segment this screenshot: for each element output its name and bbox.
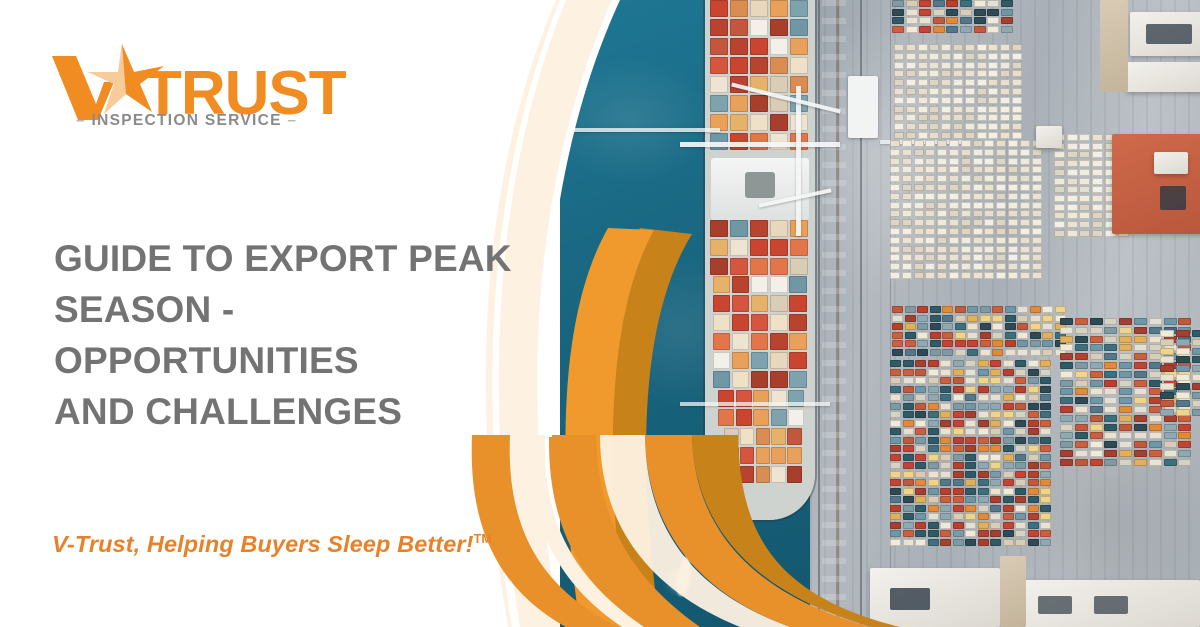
photo-ship-container (710, 57, 728, 74)
photo-yard-container (978, 488, 989, 495)
photo-yard-container (1149, 459, 1162, 466)
photo-yard-container (1015, 539, 1026, 546)
photo-yard-container (1079, 230, 1090, 237)
photo-yard-container (937, 202, 947, 209)
photo-yard-container (1012, 62, 1022, 69)
photo-yard-container (1040, 394, 1051, 401)
photo-yard-container (937, 210, 947, 217)
photo-yard-container (988, 62, 998, 69)
photo-ship-container (789, 295, 806, 312)
photo-yard-container (1079, 178, 1090, 185)
photo-yard-container (894, 62, 904, 69)
photo-yard-container (914, 193, 924, 200)
photo-yard-container (890, 272, 900, 279)
photo-yard-container (1028, 454, 1039, 461)
photo-yard-container (903, 454, 914, 461)
photo-ship-container (771, 466, 786, 483)
photo-yard-container (988, 123, 998, 130)
photo-yard-container (890, 488, 901, 495)
page-title-line-1: GUIDE TO EXPORT PEAK (54, 238, 512, 279)
photo-yard-container (1090, 424, 1103, 431)
photo-yard-container (974, 9, 986, 16)
photo-yard-container (980, 340, 991, 347)
photo-yard-container (1003, 496, 1014, 503)
photo-yard-container (1079, 134, 1090, 141)
photo-ship-container (770, 239, 788, 256)
photo-yard-container (949, 140, 959, 147)
photo-yard-container (1020, 140, 1030, 147)
photo-yard-container (978, 377, 989, 384)
photo-yard-container (894, 132, 904, 139)
photo-yard-container (925, 246, 935, 253)
photo-yard-container (987, 17, 999, 24)
photo-yard-container (1054, 169, 1065, 176)
photo-yard-container (1119, 344, 1132, 351)
photo-yard-container (1104, 318, 1117, 325)
photo-yard-container (925, 237, 935, 244)
photo-yard-container (978, 360, 989, 367)
photo-yard-container (925, 219, 935, 226)
photo-yard-container (973, 140, 983, 147)
photo-yard-container (917, 306, 928, 313)
photo-yard-container (1104, 336, 1117, 343)
photo-yard-container (1160, 330, 1174, 337)
photo-container-ship (705, 0, 815, 520)
photo-yard-container (978, 369, 989, 376)
photo-yard-container (1075, 318, 1088, 325)
photo-yard-container (902, 210, 912, 217)
photo-yard-container (1079, 186, 1090, 193)
photo-yard-container (903, 539, 914, 546)
page-title: GUIDE TO EXPORT PEAK SEASON - OPPORTUNIT… (54, 233, 524, 437)
photo-ship-container (771, 409, 787, 426)
photo-yard-container (965, 123, 975, 130)
photo-yard-container (918, 97, 928, 104)
photo-yard-container (914, 158, 924, 165)
photo-yard-container (918, 106, 928, 113)
photo-yard-container (1005, 315, 1016, 322)
photo-yard-container (990, 403, 1001, 410)
photo-yard-container (949, 149, 959, 156)
photo-yard-container (1090, 353, 1103, 360)
photo-yard-container (1040, 471, 1051, 478)
photo-yard-container (953, 471, 964, 478)
photo-yard-container (914, 254, 924, 261)
photo-ship-container (724, 466, 739, 483)
photo-yard-container (915, 530, 926, 537)
photo-yard-container (1032, 246, 1042, 253)
photo-yard-container (949, 202, 959, 209)
photo-yard-container (974, 17, 986, 24)
photo-yard-container (942, 332, 953, 339)
photo-yard-container (990, 462, 1001, 469)
photo-ship-container (730, 95, 748, 112)
photo-yard-container (1060, 441, 1073, 448)
photo-yard-container (1067, 160, 1078, 167)
photo-yard-container (915, 479, 926, 486)
photo-yard-container (940, 488, 951, 495)
photo-yard-container (1090, 450, 1103, 457)
photo-yard-container (1015, 513, 1026, 520)
photo-yard-container (903, 369, 914, 376)
photo-ship-container (713, 371, 730, 388)
photo-yard-container (1008, 272, 1018, 279)
photo-yard-container (906, 0, 918, 7)
photo-yard-container (1119, 362, 1132, 369)
photo-yard-container (941, 70, 951, 77)
photo-yard-container (1134, 388, 1147, 395)
photo-ship-container (740, 447, 755, 464)
photo-yard-container (890, 496, 901, 503)
photo-yard-container (1028, 386, 1039, 393)
photo-yard-container (937, 246, 947, 253)
logo[interactable]: TRUST – INSPECTION SERVICE – (48, 42, 348, 142)
photo-yard-container (953, 505, 964, 512)
photo-yard-container (1028, 479, 1039, 486)
photo-yard-container (1176, 392, 1190, 399)
photo-yard-container (1003, 377, 1014, 384)
photo-yard-container (918, 123, 928, 130)
photo-yard-container (984, 175, 994, 182)
photo-yard-container (914, 175, 924, 182)
photo-yard-container (1003, 462, 1014, 469)
photo-yard-container (1090, 362, 1103, 369)
photo-yard-container (903, 530, 914, 537)
photo-yard-container (1020, 184, 1030, 191)
photo-yard-container (992, 332, 1003, 339)
photo-yard-container (1017, 323, 1028, 330)
photo-yard-container (1032, 254, 1042, 261)
photo-yard-container (1008, 166, 1018, 173)
photo-yard-container (1092, 134, 1103, 141)
photo-ship-container (771, 428, 786, 445)
photo-yard-container (1032, 237, 1042, 244)
photo-yard-container (996, 184, 1006, 191)
photo-yard-container (915, 394, 926, 401)
photo-yard-container (902, 228, 912, 235)
photo-yard-container (1003, 539, 1014, 546)
photo-yard-container (941, 97, 951, 104)
photo-yard-container (990, 386, 1001, 393)
photo-yard-container (925, 193, 935, 200)
photo-yard-container (1032, 210, 1042, 217)
photo-yard-container (1092, 160, 1103, 167)
photo-yard-container (965, 428, 976, 435)
photo-ship-container (710, 38, 728, 55)
photo-yard-container (1067, 221, 1078, 228)
photo-yard-container (978, 479, 989, 486)
photo-yard-container (973, 228, 983, 235)
photo-yard-container (890, 513, 901, 520)
photo-yard-container (937, 228, 947, 235)
photo-yard-container (1164, 432, 1177, 439)
photo-roof-unit (1160, 186, 1186, 210)
photo-yard-container (965, 513, 976, 520)
photo-yard-container (1079, 212, 1090, 219)
photo-yard-container (1020, 166, 1030, 173)
photo-yard-container (1040, 428, 1051, 435)
photo-yard-container (953, 522, 964, 529)
photo-yard-container (1040, 496, 1051, 503)
photo-warehouse-roof (1146, 24, 1192, 44)
photo-yard-container (890, 246, 900, 253)
photo-yard-container (940, 377, 951, 384)
photo-yard-container (960, 17, 972, 24)
photo-yard-container (965, 53, 975, 60)
photo-yard-container (978, 420, 989, 427)
photo-yard-container (930, 315, 941, 322)
photo-yard-container (919, 9, 931, 16)
photo-yard-container (929, 106, 939, 113)
photo-ship-container (710, 0, 728, 17)
photo-yard-container (940, 539, 951, 546)
photo-ship-container (789, 333, 806, 350)
photo-yard-container (1028, 513, 1039, 520)
photo-yard-container (953, 132, 963, 139)
photo-yard-container (917, 315, 928, 322)
photo-yard-container (1164, 459, 1177, 466)
photo-yard-container (953, 479, 964, 486)
photo-yard-container (892, 0, 904, 7)
photo-yard-container (1028, 522, 1039, 529)
photo-yard-container (977, 132, 987, 139)
photo-yard-container (996, 272, 1006, 279)
photo-yard-container (977, 123, 987, 130)
photo-yard-container (1015, 530, 1026, 537)
photo-yard-container (1015, 454, 1026, 461)
photo-yard-container (973, 246, 983, 253)
photo-yard-container (890, 505, 901, 512)
photo-yard-container (919, 0, 931, 7)
photo-yard-container (988, 114, 998, 121)
photo-yard-container (1119, 406, 1132, 413)
photo-yard-container (1164, 318, 1177, 325)
photo-yard-container (1032, 158, 1042, 165)
photo-yard-container (894, 123, 904, 130)
photo-yard-container (965, 62, 975, 69)
photo-yard-container (925, 158, 935, 165)
photo-yard-container (961, 202, 971, 209)
photo-yard-container (1060, 432, 1073, 439)
photo-yard-container (914, 237, 924, 244)
photo-yard-container (915, 539, 926, 546)
photo-yard-container (1020, 158, 1030, 165)
photo-yard-container (1001, 26, 1013, 33)
photo-yard-container (965, 114, 975, 121)
photo-yard-container (967, 323, 978, 330)
photo-yard-container (1067, 195, 1078, 202)
photo-yard-container (940, 496, 951, 503)
photo-ship-container (770, 76, 788, 93)
photo-yard-container (953, 70, 963, 77)
photo-yard-container (1032, 219, 1042, 226)
photo-yard-container (937, 237, 947, 244)
photo-yard-container (894, 106, 904, 113)
photo-yard-container (1054, 230, 1065, 237)
photo-yard-container (925, 272, 935, 279)
photo-ship-container (740, 428, 755, 445)
photo-yard-container (1160, 374, 1174, 381)
photo-yard-container (1079, 143, 1090, 150)
photo-yard-container (928, 513, 939, 520)
photo-ship-container (787, 466, 802, 483)
photo-yard-container (1003, 522, 1014, 529)
photo-yard-container (1090, 388, 1103, 395)
photo-yard-container (1003, 386, 1014, 393)
photo-yard-container (987, 26, 999, 33)
photo-yard-container (992, 323, 1003, 330)
photo-yard-container (978, 403, 989, 410)
photo-yard-container (1017, 332, 1028, 339)
photo-yard-container (1119, 353, 1132, 360)
photo-ship-container (713, 352, 730, 369)
photo-yard-container (953, 97, 963, 104)
photo-yard-container (1134, 336, 1147, 343)
photo-yard-container (960, 9, 972, 16)
photo-yard-container (1104, 362, 1117, 369)
photo-yard-container (1040, 445, 1051, 452)
photo-yard-container (928, 488, 939, 495)
photo-yard-container (1028, 539, 1039, 546)
photo-yard-container (903, 445, 914, 452)
photo-yard-container (1008, 140, 1018, 147)
photo-yard-container (1040, 377, 1051, 384)
photo-yard-container (1060, 371, 1073, 378)
photo-roof-unit (890, 588, 930, 610)
photo-yard-container (953, 394, 964, 401)
photo-yard-container (973, 158, 983, 165)
photo-yard-container (894, 53, 904, 60)
photo-yard-container (1003, 471, 1014, 478)
photo-yard-container (953, 445, 964, 452)
photo-yard-container (953, 437, 964, 444)
photo-yard-container (1075, 344, 1088, 351)
photo-yard-container (915, 471, 926, 478)
photo-yard-container (929, 88, 939, 95)
photo-ship-container (730, 19, 748, 36)
photo-yard-container (1192, 356, 1200, 363)
photo-yard-container (903, 420, 914, 427)
photo-yard-container (1119, 371, 1132, 378)
photo-yard-container (903, 488, 914, 495)
photo-yard-container (1054, 204, 1065, 211)
photo-yard-container (928, 539, 939, 546)
photo-yard-container (915, 445, 926, 452)
photo-yard-container (928, 411, 939, 418)
hero-photo (560, 0, 1200, 627)
photo-yard-container (988, 44, 998, 51)
photo-yard-container (973, 149, 983, 156)
photo-ship-container (750, 114, 768, 131)
photo-yard-container (990, 496, 1001, 503)
photo-yard-container (953, 369, 964, 376)
photo-yard-container (1017, 349, 1028, 356)
photo-yard-container (973, 210, 983, 217)
photo-yard-container (1104, 424, 1117, 431)
photo-yard-container (1040, 513, 1051, 520)
photo-yard-container (928, 428, 939, 435)
photo-ship-container (713, 295, 730, 312)
photo-yard-container (905, 340, 916, 347)
photo-yard-container (953, 360, 964, 367)
photo-yard-container (905, 315, 916, 322)
photo-yard-container (903, 386, 914, 393)
photo-yard-container (961, 149, 971, 156)
photo-yard-container (940, 445, 951, 452)
photo-yard-container (941, 53, 951, 60)
photo-yard-container (1005, 332, 1016, 339)
photo-yard-container (1134, 397, 1147, 404)
photo-yard-container (1015, 462, 1026, 469)
photo-yard-container (890, 166, 900, 173)
photo-ship-bridge (711, 158, 809, 220)
photo-yard-container (1003, 479, 1014, 486)
photo-yard-container (1042, 340, 1053, 347)
photo-yard-container (1008, 228, 1018, 235)
photo-yard-container (965, 394, 976, 401)
photo-yard-container (1067, 186, 1078, 193)
logo-mark: TRUST (48, 42, 348, 122)
photo-ship-container (718, 409, 734, 426)
photo-yard-container (1040, 454, 1051, 461)
photo-yard-container (1005, 306, 1016, 313)
photo-yard-container (965, 386, 976, 393)
photo-yard-container (1119, 336, 1132, 343)
photo-yard-container (978, 411, 989, 418)
photo-yard-container (1075, 459, 1088, 466)
photo-yard-container (914, 140, 924, 147)
photo-yard-container (917, 323, 928, 330)
photo-yard-container (925, 166, 935, 173)
photo-yard-container (1054, 195, 1065, 202)
photo-yard-container (1104, 406, 1117, 413)
photo-yard-container (965, 522, 976, 529)
photo-yard-container (1090, 371, 1103, 378)
photo-yard-container (1160, 400, 1174, 407)
photo-yard-container (906, 114, 916, 121)
photo-yard-container (1030, 315, 1041, 322)
photo-yard-container (903, 403, 914, 410)
photo-ship-container (753, 409, 769, 426)
photo-yard-container (1015, 428, 1026, 435)
photo-yard-container (937, 263, 947, 270)
photo-yard-container (965, 462, 976, 469)
photo-yard-container (903, 505, 914, 512)
photo-yard-container (902, 254, 912, 261)
photo-yard-container (965, 97, 975, 104)
photo-yard-container (1092, 221, 1103, 228)
photo-yard-container (980, 349, 991, 356)
photo-yard-container (890, 254, 900, 261)
photo-yard-container (984, 184, 994, 191)
photo-yard-container (940, 437, 951, 444)
photo-yard-container (1054, 221, 1065, 228)
photo-yard-container (1176, 374, 1190, 381)
photo-ship-container (770, 114, 788, 131)
photo-yard-container (1075, 327, 1088, 334)
photo-yard-container (990, 513, 1001, 520)
photo-ship-container (730, 57, 748, 74)
photo-ship-container (750, 0, 768, 17)
photo-yard-container (973, 237, 983, 244)
photo-ship-container (730, 38, 748, 55)
photo-yard-container (928, 496, 939, 503)
photo-yard-container (1003, 513, 1014, 520)
photo-yard-container (1040, 479, 1051, 486)
photo-yard-container (1090, 406, 1103, 413)
photo-yard-container (1032, 193, 1042, 200)
photo-yard-container (1020, 219, 1030, 226)
